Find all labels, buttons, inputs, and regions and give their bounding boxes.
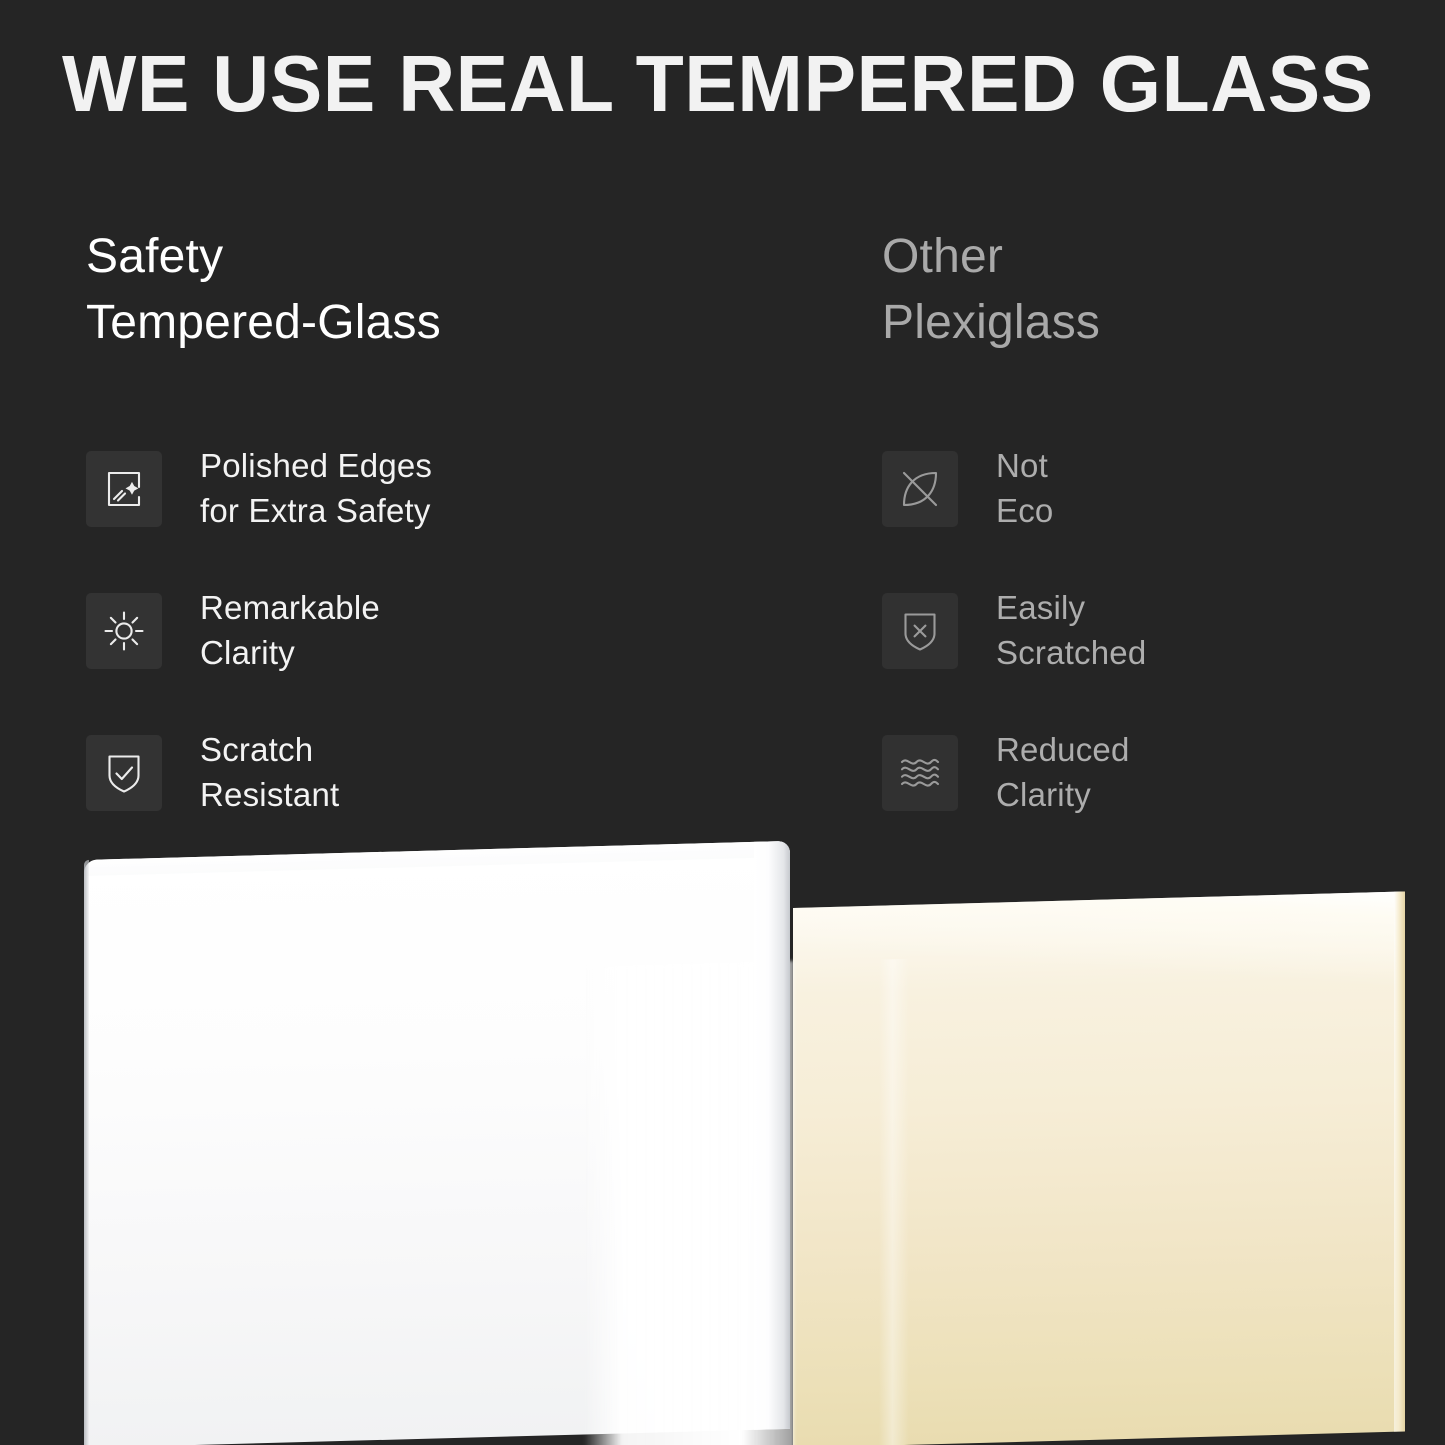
leaf-crossed-out-icon — [882, 451, 958, 527]
tempered-glass-panel-white — [84, 841, 790, 1445]
polished-glass-pane-sparkle-icon — [86, 451, 162, 527]
feature-row-polished-edges: Polished Edges for Extra Safety — [86, 440, 646, 538]
feature-label-polished-edges: Polished Edges for Extra Safety — [200, 444, 432, 533]
sun-clarity-icon — [86, 593, 162, 669]
column-title-tempered-glass: Safety Tempered-Glass — [86, 224, 646, 356]
glass-right-polished-edge — [754, 841, 790, 1430]
feature-label-reduced-clarity: Reduced Clarity — [996, 728, 1130, 817]
page-title: WE USE REAL TEMPERED GLASS — [62, 36, 1372, 132]
wavy-lines-icon — [882, 735, 958, 811]
feature-list-plexiglass: Not Eco Easily Scratched — [882, 440, 1442, 822]
plexiglass-panel-cream — [793, 891, 1405, 1445]
feature-list-tempered-glass: Polished Edges for Extra Safety Remarkab… — [86, 440, 646, 822]
shield-check-icon — [86, 735, 162, 811]
comparison-section: Safety Tempered-Glass Polished Edges for… — [0, 224, 1445, 844]
glass-top-polished-edge — [84, 841, 790, 876]
plexiglass-edge — [1394, 891, 1405, 1431]
shield-x-icon — [882, 593, 958, 669]
comparison-column-tempered-glass: Safety Tempered-Glass Polished Edges for… — [86, 224, 646, 356]
feature-row-remarkable-clarity: Remarkable Clarity — [86, 582, 646, 680]
feature-label-not-eco: Not Eco — [996, 444, 1053, 533]
feature-label-remarkable-clarity: Remarkable Clarity — [200, 586, 380, 675]
feature-row-not-eco: Not Eco — [882, 440, 1442, 538]
feature-label-easily-scratched: Easily Scratched — [996, 586, 1146, 675]
glass-left-polished-edge — [84, 860, 89, 1445]
plexiglass-reflection — [879, 959, 909, 1445]
infographic-root: WE USE REAL TEMPERED GLASS Safety Temper… — [0, 0, 1445, 1445]
product-photo — [0, 840, 1445, 1445]
feature-row-easily-scratched: Easily Scratched — [882, 582, 1442, 680]
feature-row-reduced-clarity: Reduced Clarity — [882, 724, 1442, 822]
column-title-plexiglass: Other Plexiglass — [882, 224, 1442, 356]
comparison-column-plexiglass: Other Plexiglass Not Eco — [882, 224, 1442, 356]
feature-row-scratch-resistant: Scratch Resistant — [86, 724, 646, 822]
feature-label-scratch-resistant: Scratch Resistant — [200, 728, 339, 817]
